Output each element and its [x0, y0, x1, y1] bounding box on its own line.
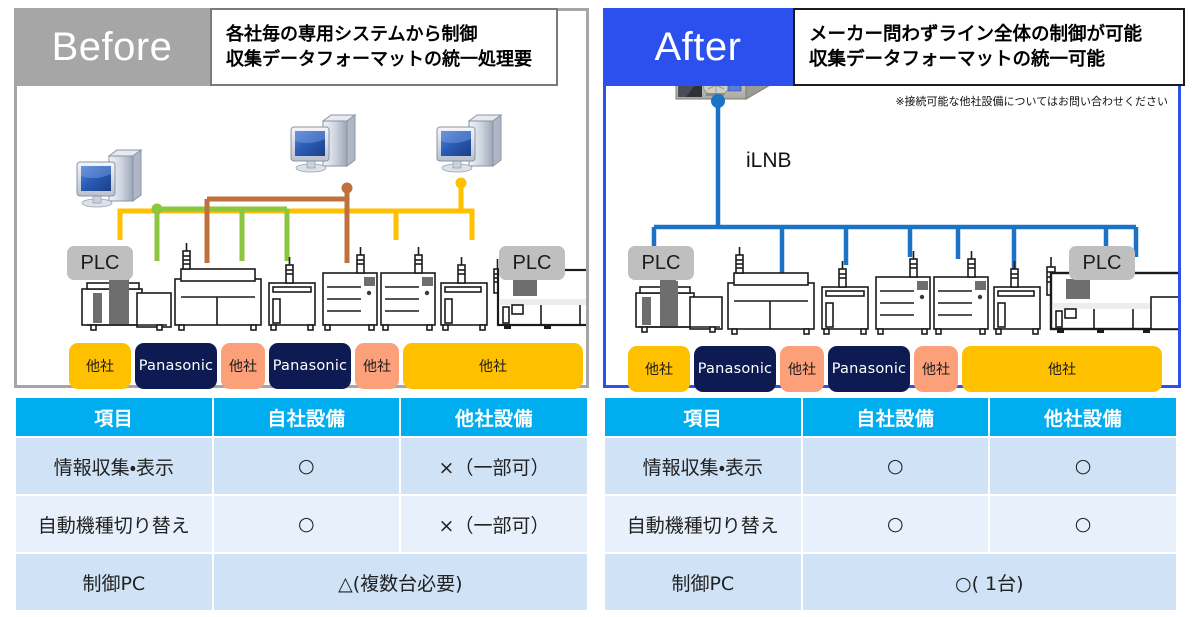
machine-mounter-c — [381, 247, 435, 330]
machine-mounter-b — [323, 247, 377, 330]
cell-merged: △(複数台必要) — [214, 554, 587, 610]
wire-node-green — [152, 204, 163, 215]
before-panel: Before 各社毎の専用システムから制御 収集データフォーマットの統一処理要 … — [14, 8, 589, 388]
cell-item: 自動機種切り替え — [605, 496, 801, 552]
cell-other: ○ — [990, 438, 1176, 494]
equip-chip-3: 他社 — [780, 346, 824, 392]
table-row: 情報収集・表示 ○ ×（一部可） — [16, 438, 587, 494]
before-header: Before 各社毎の専用システムから制御 収集データフォーマットの統一処理要 — [14, 8, 558, 86]
plc-badge-left: PLC — [628, 246, 694, 280]
machine-inspection — [441, 257, 487, 330]
machine-printer — [728, 247, 814, 334]
col-header-item: 項目 — [605, 398, 801, 436]
before-caption-line-1: 各社毎の専用システムから制御 — [226, 22, 544, 47]
cell-other: ○ — [990, 496, 1176, 552]
table-row: 情報収集・表示 ○ ○ — [605, 438, 1176, 494]
cell-own: ○ — [803, 496, 988, 552]
wire-green — [157, 209, 287, 261]
after-comparison-table: 項目 自社設備 他社設備 情報収集・表示 ○ ○ 自動機種切り替え ○ ○ 制御… — [603, 396, 1178, 612]
pc-icon-1 — [77, 150, 141, 207]
table-header-row: 項目 自社設備 他社設備 — [16, 398, 587, 436]
cell-item: 自動機種切り替え — [16, 496, 212, 552]
machine-unloader — [1151, 297, 1178, 329]
equip-chip-5: 他社 — [914, 346, 958, 392]
equip-chip-3: 他社 — [221, 343, 265, 389]
cell-own: ○ — [214, 496, 399, 552]
after-caption-line-1: メーカー問わずライン全体の制御が可能 — [809, 22, 1171, 47]
table-row: 自動機種切り替え ○ ○ — [605, 496, 1176, 552]
cell-other: ×（一部可） — [401, 496, 587, 552]
equip-chip-6: 他社 — [962, 346, 1162, 392]
cell-other: ×（一部可） — [401, 438, 587, 494]
cell-item: 制御PC — [605, 554, 801, 610]
machine-mounter-a — [269, 257, 315, 330]
table-row: 自動機種切り替え ○ ×（一部可） — [16, 496, 587, 552]
machine-mounter-c — [934, 251, 988, 334]
col-header-item: 項目 — [16, 398, 212, 436]
equip-chip-1: 他社 — [628, 346, 690, 392]
machine-inspection — [994, 261, 1040, 334]
wire-node-blue — [711, 94, 725, 108]
table-header-row: 項目 自社設備 他社設備 — [605, 398, 1176, 436]
after-tag: After — [603, 8, 793, 86]
after-caption-line-2: 収集データフォーマットの統一可能 — [809, 47, 1171, 72]
cell-own: ○ — [214, 438, 399, 494]
equip-chip-2: Panasonic — [135, 343, 217, 389]
cell-item: 制御PC — [16, 554, 212, 610]
plc-badge-left: PLC — [67, 246, 133, 280]
after-header: After メーカー問わずライン全体の制御が可能 収集データフォーマットの統一可… — [603, 8, 1185, 86]
cell-own: ○ — [803, 438, 988, 494]
after-panel: After メーカー問わずライン全体の制御が可能 収集データフォーマットの統一可… — [603, 8, 1181, 388]
after-caption: メーカー問わずライン全体の制御が可能 収集データフォーマットの統一可能 — [793, 8, 1185, 86]
equip-chip-6: 他社 — [403, 343, 583, 389]
cell-item: 情報収集・表示 — [605, 438, 801, 494]
col-header-other: 他社設備 — [401, 398, 587, 436]
machine-printer — [175, 243, 261, 330]
plc-badge-right: PLC — [499, 246, 565, 280]
table-row: 制御PC ○( 1台) — [605, 554, 1176, 610]
before-comparison-table: 項目 自社設備 他社設備 情報収集・表示 ○ ×（一部可） 自動機種切り替え ○… — [14, 396, 589, 612]
col-header-other: 他社設備 — [990, 398, 1176, 436]
col-header-own: 自社設備 — [803, 398, 988, 436]
comparison-slide: Before 各社毎の専用システムから制御 収集データフォーマットの統一処理要 … — [0, 0, 1192, 617]
machine-mounter-b — [876, 251, 930, 334]
machine-mounter-a — [822, 261, 868, 334]
pc-icon-3 — [437, 115, 501, 172]
table-row: 制御PC △(複数台必要) — [16, 554, 587, 610]
pc-icon-2 — [291, 115, 355, 172]
before-tag: Before — [14, 8, 210, 86]
equip-chip-1: 他社 — [69, 343, 131, 389]
equip-chip-2: Panasonic — [694, 346, 776, 392]
wire-node-yellow — [456, 178, 467, 189]
after-note: ※接続可能な他社設備についてはお問い合わせください — [895, 93, 1168, 109]
before-caption-line-2: 収集データフォーマットの統一処理要 — [226, 47, 544, 72]
plc-badge-right: PLC — [1069, 246, 1135, 280]
before-caption: 各社毎の専用システムから制御 収集データフォーマットの統一処理要 — [210, 8, 558, 86]
wire-blue-bus — [654, 101, 1136, 273]
equip-chip-4: Panasonic — [269, 343, 351, 389]
equip-chip-4: Panasonic — [828, 346, 910, 392]
equip-chip-5: 他社 — [355, 343, 399, 389]
server-label: iLNB — [746, 149, 792, 173]
col-header-own: 自社設備 — [214, 398, 399, 436]
cell-merged: ○( 1台) — [803, 554, 1176, 610]
cell-item: 情報収集・表示 — [16, 438, 212, 494]
